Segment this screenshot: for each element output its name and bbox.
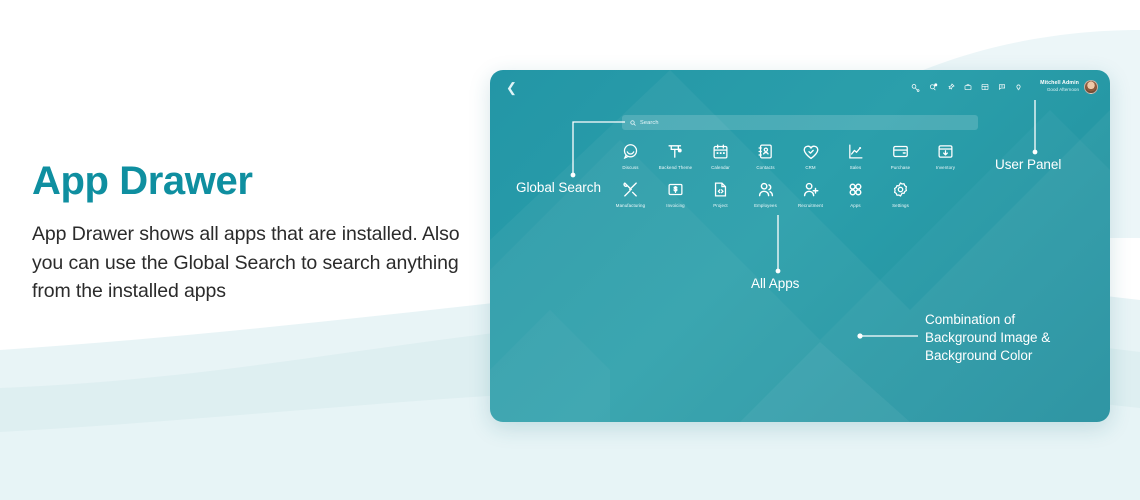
annotation-user-panel: User Panel xyxy=(995,156,1061,174)
annotation-background: Combination of Background Image & Backgr… xyxy=(925,311,1050,365)
annotation-all-apps: All Apps xyxy=(751,275,799,293)
annotation-global-search: Global Search xyxy=(516,179,601,197)
annotation-leader-lines xyxy=(0,0,1140,500)
